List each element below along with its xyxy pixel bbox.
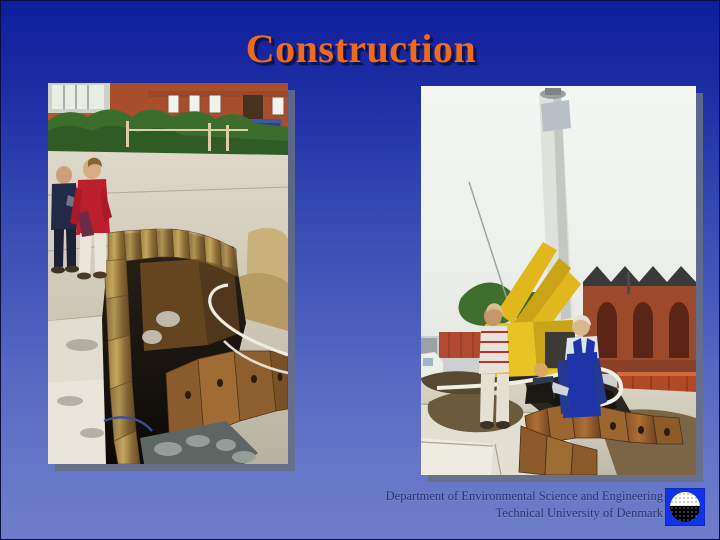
dtu-logo-disc [670,492,700,522]
photo-right [421,86,696,475]
page-title: Construction [1,25,720,72]
dtu-logo-dots-bottom [670,506,700,522]
dtu-logo-icon [665,488,705,526]
footer-text-block: Department of Environmental Science and … [386,488,663,522]
photo-left-artwork [48,83,288,464]
footer-department: Department of Environmental Science and … [386,488,663,505]
footer-university: Technical University of Denmark [386,505,663,522]
photo-left [48,83,288,464]
slide-footer: Department of Environmental Science and … [1,488,720,538]
dtu-logo-dots-top [670,492,700,506]
presentation-slide: Construction [0,0,720,540]
photo-right-artwork [421,86,696,475]
